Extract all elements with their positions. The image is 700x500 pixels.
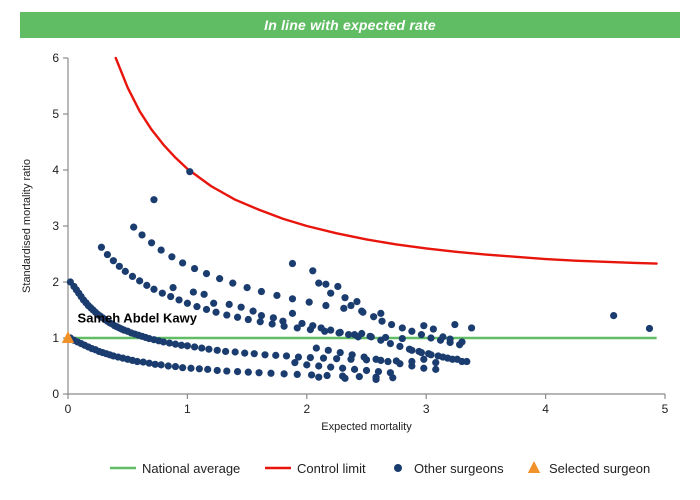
scatter-point[interactable] [168, 253, 175, 260]
scatter-point[interactable] [169, 284, 176, 291]
scatter-point[interactable] [399, 335, 406, 342]
scatter-point[interactable] [270, 314, 277, 321]
y-tick-label: 1 [52, 331, 59, 345]
scatter-point[interactable] [193, 303, 200, 310]
y-tick-label: 4 [52, 163, 59, 177]
scatter-point[interactable] [334, 283, 341, 290]
scatter-point[interactable] [104, 251, 111, 258]
scatter-point[interactable] [318, 324, 325, 331]
scatter-point[interactable] [226, 301, 233, 308]
scatter-point[interactable] [122, 268, 129, 275]
scatter-point[interactable] [375, 368, 382, 375]
scatter-point[interactable] [359, 309, 366, 316]
scatter-point[interactable] [387, 340, 394, 347]
scatter-point[interactable] [238, 304, 245, 311]
legend-label: National average [142, 461, 240, 476]
scatter-point[interactable] [345, 331, 352, 338]
scatter-point[interactable] [160, 338, 167, 345]
scatter-point[interactable] [279, 318, 286, 325]
scatter-point[interactable] [333, 355, 340, 362]
scatter-point[interactable] [396, 343, 403, 350]
scatter-point[interactable] [159, 290, 166, 297]
scatter-point[interactable] [186, 168, 193, 175]
scatter-point[interactable] [258, 288, 265, 295]
scatter-point[interactable] [232, 348, 239, 355]
scatter-point[interactable] [294, 371, 301, 378]
scatter-point[interactable] [146, 360, 153, 367]
data-points [67, 168, 653, 383]
scatter-point[interactable] [377, 337, 384, 344]
scatter-point[interactable] [203, 306, 210, 313]
scatter-point[interactable] [361, 353, 368, 360]
scatter-point[interactable] [190, 288, 197, 295]
scatter-point[interactable] [283, 352, 290, 359]
scatter-point[interactable] [251, 350, 258, 357]
scatter-point[interactable] [339, 365, 346, 372]
scatter-point[interactable] [356, 373, 363, 380]
scatter-point[interactable] [198, 344, 205, 351]
scatter-point[interactable] [179, 259, 186, 266]
scatter-point[interactable] [315, 362, 322, 369]
scatter-point[interactable] [408, 362, 415, 369]
scatter-point[interactable] [191, 343, 198, 350]
scatter-point[interactable] [269, 320, 276, 327]
scatter-point[interactable] [347, 302, 354, 309]
scatter-point[interactable] [249, 308, 256, 315]
scatter-point[interactable] [234, 368, 241, 375]
scatter-point[interactable] [167, 293, 174, 300]
control-limit-curve [116, 58, 657, 264]
scatter-point[interactable] [165, 362, 172, 369]
scatter-point[interactable] [216, 275, 223, 282]
scatter-point[interactable] [340, 305, 347, 312]
scatter-point[interactable] [427, 334, 434, 341]
y-tick-label: 2 [52, 275, 59, 289]
scatter-point[interactable] [140, 358, 147, 365]
scatter-point[interactable] [439, 353, 446, 360]
scatter-point[interactable] [458, 338, 465, 345]
scatter-point[interactable] [129, 273, 136, 280]
scatter-point[interactable] [204, 366, 211, 373]
scatter-point[interactable] [201, 291, 208, 298]
scatter-point[interactable] [370, 313, 377, 320]
scatter-point[interactable] [388, 321, 395, 328]
scatter-point[interactable] [309, 322, 316, 329]
scatter-point[interactable] [324, 372, 331, 379]
scatter-point[interactable] [258, 312, 265, 319]
scatter-point[interactable] [289, 295, 296, 302]
scatter-point[interactable] [98, 244, 105, 251]
scatter-point[interactable] [184, 300, 191, 307]
scatter-point[interactable] [337, 349, 344, 356]
scatter-point[interactable] [384, 358, 391, 365]
x-tick-label: 0 [65, 402, 72, 416]
y-tick-label: 5 [52, 107, 59, 121]
x-axis-title: Expected mortality [321, 421, 412, 433]
scatter-point[interactable] [439, 333, 446, 340]
y-axis-title: Standardised mortality ratio [21, 159, 33, 293]
scatter-point[interactable] [289, 260, 296, 267]
scatter-point[interactable] [116, 263, 123, 270]
scatter-point[interactable] [322, 302, 329, 309]
scatter-point[interactable] [303, 361, 310, 368]
scatter-point[interactable] [427, 351, 434, 358]
scatter-point[interactable] [315, 280, 322, 287]
scatter-point[interactable] [196, 365, 203, 372]
scatter-point[interactable] [214, 367, 221, 374]
scatter-point[interactable] [214, 347, 221, 354]
scatter-point[interactable] [432, 366, 439, 373]
scatter-point[interactable] [184, 342, 191, 349]
scatter-point[interactable] [158, 246, 165, 253]
scatter-point[interactable] [351, 366, 358, 373]
scatter-point[interactable] [210, 300, 217, 307]
x-tick-label: 2 [303, 402, 310, 416]
y-tick-label: 0 [52, 387, 59, 401]
scatter-point[interactable] [313, 344, 320, 351]
scatter-point[interactable] [309, 267, 316, 274]
scatter-point[interactable] [175, 296, 182, 303]
scatter-point[interactable] [223, 367, 230, 374]
scatter-point[interactable] [148, 239, 155, 246]
scatter-point[interactable] [327, 290, 334, 297]
scatter-point[interactable] [187, 365, 194, 372]
scatter-point[interactable] [358, 330, 365, 337]
scatter-point[interactable] [396, 360, 403, 367]
scatter-point[interactable] [408, 347, 415, 354]
scatter-point[interactable] [322, 281, 329, 288]
scatter-point[interactable] [420, 365, 427, 372]
legend-label: Other surgeons [414, 461, 504, 476]
scatter-point[interactable] [468, 324, 475, 331]
scatter-point[interactable] [136, 277, 143, 284]
scatter-point[interactable] [408, 328, 415, 335]
scatter-point[interactable] [130, 224, 137, 231]
point-annotation: Sameh Abdel Kawy [78, 310, 198, 325]
scatter-point[interactable] [420, 356, 427, 363]
scatter-point[interactable] [327, 327, 334, 334]
scatter-point[interactable] [327, 364, 334, 371]
scatter-point[interactable] [418, 349, 425, 356]
x-tick-label: 4 [542, 402, 549, 416]
scatter-point[interactable] [289, 310, 296, 317]
scatter-point[interactable] [372, 376, 379, 383]
legend-circle-swatch [394, 464, 402, 472]
scatter-point[interactable] [245, 316, 252, 323]
scatter-point[interactable] [337, 329, 344, 336]
scatter-point[interactable] [255, 369, 262, 376]
scatter-point[interactable] [349, 351, 356, 358]
legend-label: Selected surgeon [549, 461, 650, 476]
scatter-point[interactable] [244, 284, 251, 291]
scatter-point[interactable] [150, 196, 157, 203]
scatter-point[interactable] [378, 318, 385, 325]
scatter-point[interactable] [273, 292, 280, 299]
scatter-point[interactable] [281, 370, 288, 377]
scatter-point[interactable] [172, 363, 179, 370]
funnel-plot-chart: In line with expected rate 0123456012345… [0, 0, 700, 500]
scatter-point[interactable] [234, 314, 241, 321]
scatter-point[interactable] [610, 312, 617, 319]
scatter-point[interactable] [430, 325, 437, 332]
scatter-point[interactable] [399, 324, 406, 331]
y-tick-label: 6 [52, 51, 59, 65]
scatter-point[interactable] [229, 280, 236, 287]
scatter-point[interactable] [267, 370, 274, 377]
scatter-point[interactable] [363, 367, 370, 374]
scatter-point[interactable] [377, 310, 384, 317]
scatter-point[interactable] [307, 354, 314, 361]
scatter-point[interactable] [203, 270, 210, 277]
scatter-point[interactable] [150, 286, 157, 293]
scatter-point[interactable] [320, 355, 327, 362]
scatter-point[interactable] [138, 231, 145, 238]
scatter-point[interactable] [420, 322, 427, 329]
scatter-point[interactable] [212, 309, 219, 316]
scatter-point[interactable] [245, 369, 252, 376]
scatter-point[interactable] [325, 347, 332, 354]
scatter-point[interactable] [179, 364, 186, 371]
legend-label: Control limit [297, 461, 366, 476]
scatter-point[interactable] [308, 371, 315, 378]
chart-legend: National averageControl limitOther surge… [110, 461, 650, 476]
scatter-point[interactable] [172, 341, 179, 348]
annotation-label: Sameh Abdel Kawy [78, 310, 198, 325]
scatter-point[interactable] [241, 350, 248, 357]
scatter-point[interactable] [166, 339, 173, 346]
scatter-point[interactable] [458, 358, 465, 365]
plot-area: 0123456012345Expected mortalityStandardi… [0, 0, 700, 500]
x-tick-label: 3 [423, 402, 430, 416]
scatter-point[interactable] [298, 320, 305, 327]
scatter-point[interactable] [451, 321, 458, 328]
scatter-point[interactable] [191, 265, 198, 272]
scatter-point[interactable] [261, 351, 268, 358]
scatter-point[interactable] [205, 346, 212, 353]
scatter-point[interactable] [291, 359, 298, 366]
scatter-point[interactable] [306, 299, 313, 306]
scatter-point[interactable] [110, 257, 117, 264]
scatter-point[interactable] [418, 331, 425, 338]
scatter-point[interactable] [646, 325, 653, 332]
scatter-point[interactable] [432, 359, 439, 366]
scatter-point[interactable] [315, 374, 322, 381]
scatter-point[interactable] [368, 333, 375, 340]
scatter-point[interactable] [158, 361, 165, 368]
y-tick-label: 3 [52, 219, 59, 233]
scatter-point[interactable] [449, 356, 456, 363]
scatter-point[interactable] [372, 356, 379, 363]
x-tick-label: 1 [184, 402, 191, 416]
scatter-point[interactable] [223, 311, 230, 318]
scatter-point[interactable] [387, 369, 394, 376]
scatter-point[interactable] [446, 336, 453, 343]
scatter-point[interactable] [353, 298, 360, 305]
scatter-point[interactable] [272, 352, 279, 359]
x-tick-label: 5 [662, 402, 669, 416]
scatter-point[interactable] [341, 375, 348, 382]
scatter-point[interactable] [257, 318, 264, 325]
scatter-point[interactable] [143, 282, 150, 289]
scatter-point[interactable] [222, 348, 229, 355]
legend-triangle-swatch [528, 461, 540, 473]
scatter-point[interactable] [341, 294, 348, 301]
